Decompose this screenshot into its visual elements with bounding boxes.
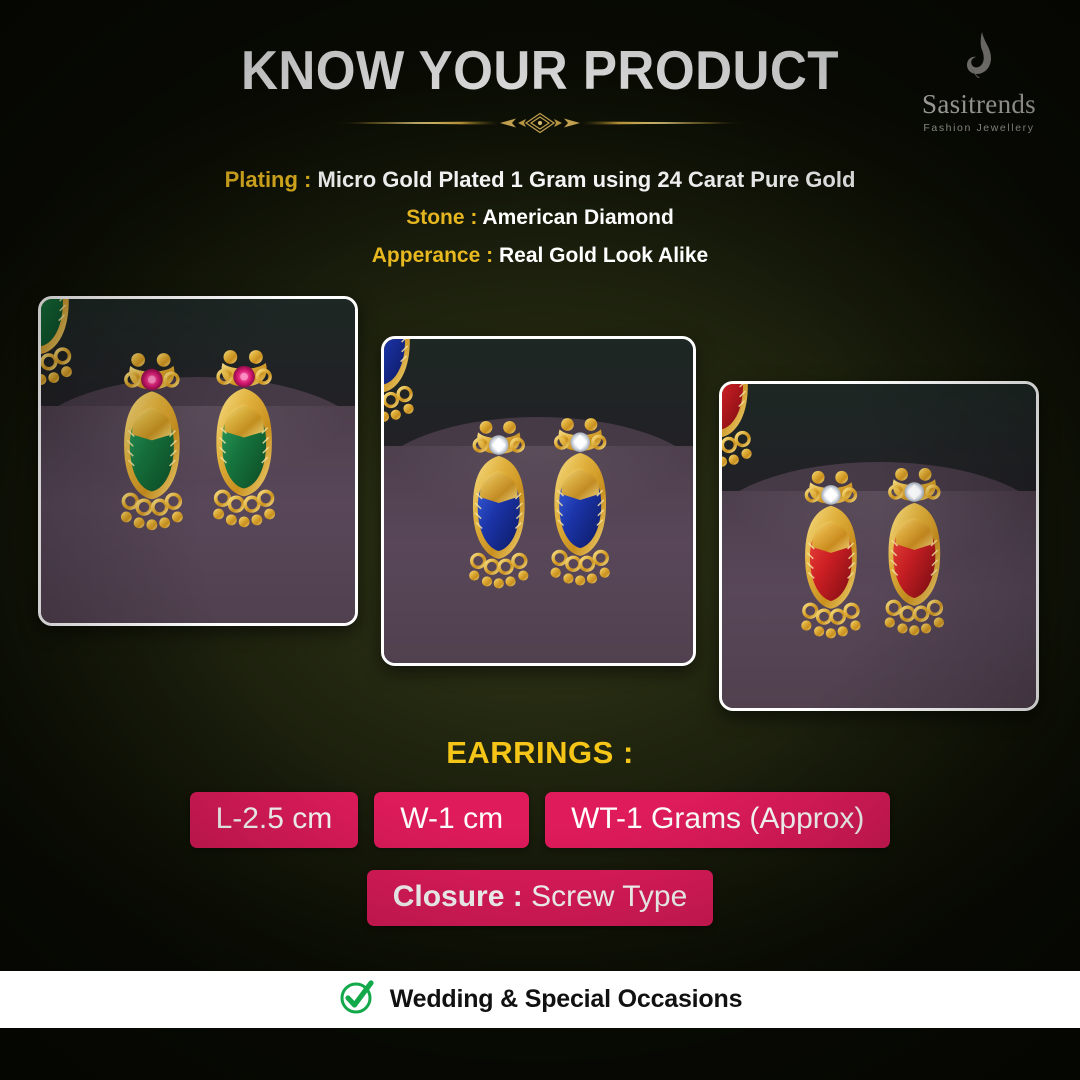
footer-text: Wedding & Special Occasions — [390, 985, 743, 1014]
spec-row-stone: Stone : American Diamond — [0, 199, 1080, 236]
brand-tagline: Fashion Jewellery — [904, 122, 1054, 134]
spec-row-plating: Plating : Micro Gold Plated 1 Gram using… — [0, 160, 1080, 199]
green-check-circle-icon — [338, 978, 376, 1021]
badge-closure[interactable]: Closure : Screw Type — [367, 870, 714, 926]
brand-logo: Sasitrends Fashion Jewellery — [904, 30, 1054, 134]
spec-key: Apperance : — [372, 244, 493, 267]
spec-row-apperance: Apperance : Real Gold Look Alike — [0, 237, 1080, 274]
closure-badge-row: Closure : Screw Type — [0, 870, 1080, 926]
earring-pair-blue — [384, 339, 693, 663]
brand-name: Sasitrends — [904, 91, 1054, 118]
blue-earrings-photo[interactable] — [381, 336, 696, 666]
badge-closure-value: Screw Type — [531, 880, 687, 913]
badge-weight[interactable]: WT-1 Grams (Approx) — [545, 792, 890, 848]
green-earrings-photo[interactable] — [38, 296, 358, 626]
sasitrends-flame-mark-icon — [904, 30, 1054, 89]
badge-width[interactable]: W-1 cm — [374, 792, 529, 848]
earring-pair-red — [722, 384, 1036, 708]
red-earrings-photo[interactable] — [719, 381, 1039, 711]
earring-pair-green — [41, 299, 355, 623]
spec-value: American Diamond — [482, 206, 673, 229]
dimension-badge-row: L-2.5 cm W-1 cm WT-1 Grams (Approx) — [0, 792, 1080, 848]
badge-length[interactable]: L-2.5 cm — [190, 792, 359, 848]
earrings-section-heading: EARRINGS : — [0, 735, 1080, 771]
specs-list: Plating : Micro Gold Plated 1 Gram using… — [0, 160, 1080, 274]
spec-key: Stone : — [406, 206, 477, 229]
spec-value: Real Gold Look Alike — [499, 244, 708, 267]
page-title: KNOW YOUR PRODUCT — [38, 38, 1042, 102]
spec-value: Micro Gold Plated 1 Gram using 24 Carat … — [318, 167, 856, 192]
poster-background: KNOW YOUR PRODUCT — [0, 0, 1080, 1080]
badge-closure-key: Closure : — [393, 880, 523, 913]
spec-key: Plating : — [225, 167, 312, 192]
gold-ornament-divider-icon — [330, 112, 750, 139]
footer-bar: Wedding & Special Occasions — [0, 971, 1080, 1028]
